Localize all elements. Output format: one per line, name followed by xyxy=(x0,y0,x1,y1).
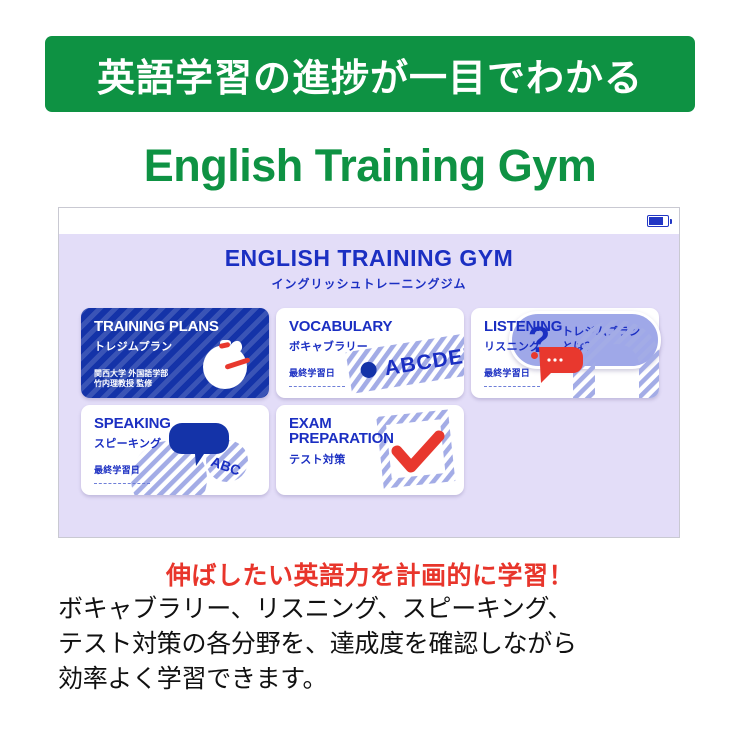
footer-body-line2: テスト対策の各分野を、達成度を確認しながら xyxy=(58,627,698,662)
card-title-en: TRAINING PLANS xyxy=(94,319,219,334)
promo-page: 英語学習の進捗が一目でわかる English Training Gym ENGL… xyxy=(0,0,740,740)
product-title: English Training Gym xyxy=(0,140,740,192)
card-exam-preparation[interactable]: EXAM PREPARATION テスト対策 xyxy=(276,405,464,495)
last-study-date-value xyxy=(289,386,345,387)
app-screenshot-panel: ENGLISH TRAINING GYM イングリッシュトレーニングジム TRA… xyxy=(58,207,680,538)
card-title-en: VOCABULARY xyxy=(289,319,392,334)
last-study-date-value xyxy=(94,483,150,484)
card-title-jp: テスト対策 xyxy=(289,451,346,467)
card-credit: 関西大学 外国語学部 竹内理教授 監修 xyxy=(94,369,168,389)
last-study-date-label: 最終学習日 xyxy=(484,366,530,379)
footer-body-line1: ボキャブラリー、リスニング、スピーキング、 xyxy=(58,592,698,627)
card-listening[interactable]: LISTENING リスニング 最終学習日 xyxy=(471,308,659,398)
card-credit-line1: 関西大学 外国語学部 xyxy=(94,369,168,379)
card-title-jp: リスニング xyxy=(484,338,541,354)
card-speaking[interactable]: ABC SPEAKING スピーキング 最終学習日 xyxy=(81,405,269,495)
headline-banner-text: 英語学習の進捗が一目でわかる xyxy=(97,47,643,102)
card-title-en: LISTENING xyxy=(484,319,562,334)
stopwatch-icon xyxy=(195,330,257,392)
status-bar xyxy=(59,208,679,234)
card-title-en-line2: PREPARATION xyxy=(289,431,394,446)
battery-fill xyxy=(649,217,663,225)
last-study-date-value xyxy=(484,386,540,387)
card-title-jp: トレジムプラン xyxy=(94,338,172,354)
headline-banner: 英語学習の進捗が一目でわかる xyxy=(45,36,695,112)
card-credit-line2: 竹内理教授 監修 xyxy=(94,379,168,389)
app-title: ENGLISH TRAINING GYM xyxy=(59,245,679,272)
card-title-en: SPEAKING xyxy=(94,416,171,431)
card-title-en: EXAM PREPARATION xyxy=(289,416,394,446)
card-title-jp: ボキャブラリー xyxy=(289,338,368,354)
module-card-grid: TRAINING PLANS トレジムプラン 関西大学 外国語学部 竹内理教授 … xyxy=(81,308,659,495)
card-vocabulary[interactable]: ABCDEF. VOCABULARY ボキャブラリー 最終学習日 xyxy=(276,308,464,398)
footer-body-line3: 効率よく学習できます。 xyxy=(58,662,698,697)
app-header: ENGLISH TRAINING GYM イングリッシュトレーニングジム xyxy=(59,234,679,292)
card-title-en-line1: EXAM xyxy=(289,416,394,431)
card-title-jp: スピーキング xyxy=(94,435,161,451)
card-training-plans[interactable]: TRAINING PLANS トレジムプラン 関西大学 外国語学部 竹内理教授 … xyxy=(81,308,269,398)
app-subtitle: イングリッシュトレーニングジム xyxy=(59,275,679,292)
last-study-date-label: 最終学習日 xyxy=(94,463,140,476)
footer-headline: 伸ばしたい英語力を計画的に学習！ xyxy=(0,556,740,592)
last-study-date-label: 最終学習日 xyxy=(289,366,335,379)
footer-body: ボキャブラリー、リスニング、スピーキング、 テスト対策の各分野を、達成度を確認し… xyxy=(58,592,698,697)
battery-icon xyxy=(647,215,669,227)
